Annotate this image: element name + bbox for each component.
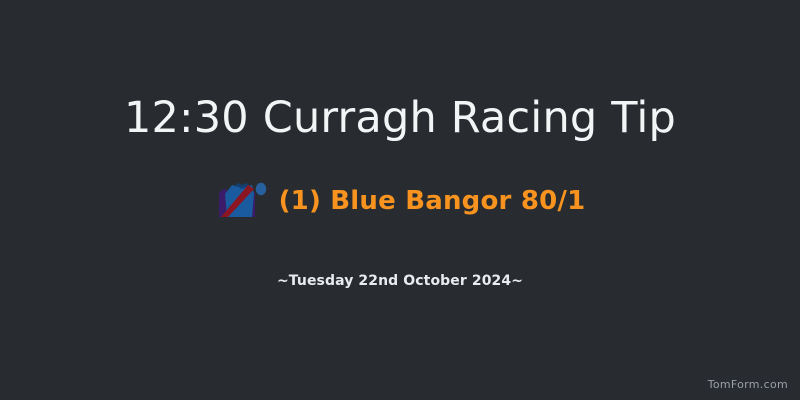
site-watermark: TomForm.com — [708, 378, 788, 391]
race-date: ~Tuesday 22nd October 2024~ — [277, 273, 523, 289]
racing-tip-card: 12:30 Curragh Racing Tip (1) Blue Bangor… — [0, 0, 800, 400]
jockey-silk-icon — [215, 176, 269, 226]
page-title: 12:30 Curragh Racing Tip — [124, 95, 676, 142]
tip-selection-text: (1) Blue Bangor 80/1 — [279, 188, 586, 214]
tip-selection-row: (1) Blue Bangor 80/1 — [215, 176, 586, 226]
